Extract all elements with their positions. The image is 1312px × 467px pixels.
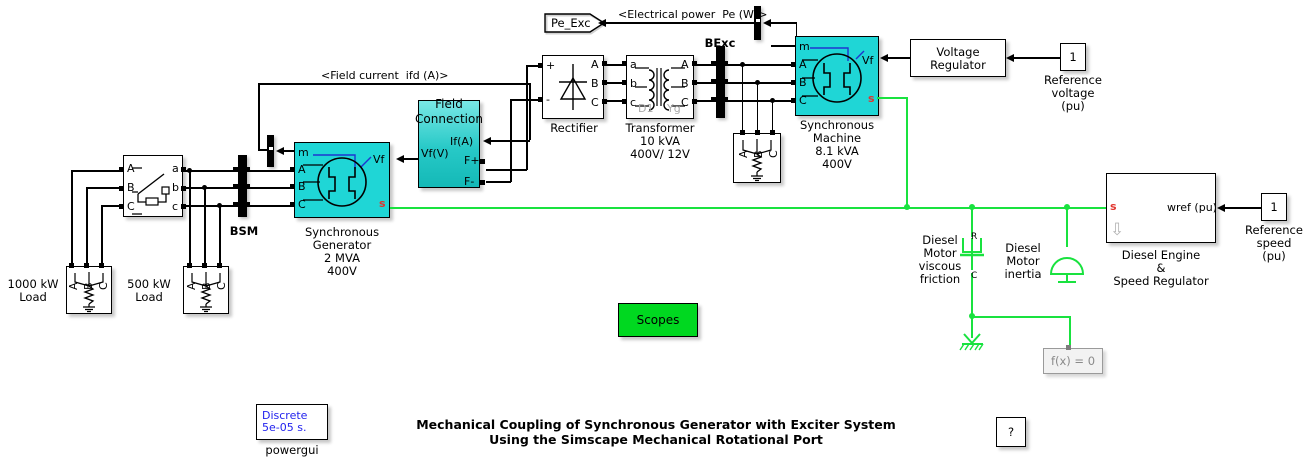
gen-port-m: m xyxy=(298,147,309,158)
wire-500-a xyxy=(189,170,191,265)
load1000-label-2: Load xyxy=(2,291,64,304)
fc-out-port-fminus xyxy=(480,180,485,185)
simulink-canvas: Pe_Exc <Electrical power Pe (W)> m A B C… xyxy=(0,0,1312,467)
diesel-port-s: s xyxy=(1110,201,1117,212)
scopes-label: Scopes xyxy=(618,314,698,327)
mech-wire-inertia xyxy=(1066,207,1068,247)
sm-input-port-a xyxy=(791,62,796,67)
wire-ifd-v-right xyxy=(529,83,531,140)
wire-1000-a-h xyxy=(71,170,120,172)
wire-1000-c-h xyxy=(101,205,120,207)
mech-wire-to-solver-v xyxy=(1069,316,1071,348)
bus-selector-pe-port xyxy=(756,19,760,22)
bexc-port-a-out xyxy=(723,61,728,66)
fc-port-if: If(A) xyxy=(450,136,473,147)
solver-configuration-block[interactable]: f(x) = 0 xyxy=(1043,348,1103,374)
wire-m-to-machine xyxy=(771,45,797,47)
exciter-load-port-c xyxy=(770,130,775,135)
bus-selector-gen-m[interactable] xyxy=(267,135,274,167)
wire-fminus-h2 xyxy=(486,181,511,183)
tr-port-a-out: A xyxy=(681,59,689,70)
sm-port-b: B xyxy=(799,77,807,88)
gen-vf-arrow-icon xyxy=(396,155,404,163)
switch-port-c-out: c xyxy=(172,201,178,212)
fc-port-vf-in: Vf(V) xyxy=(421,148,449,159)
rect-port-b: B xyxy=(591,78,599,89)
friction-label-4: friction xyxy=(912,273,968,286)
bexc-port-b-out xyxy=(723,79,728,84)
field-connection-label-2: Connection xyxy=(398,113,500,126)
sm-port-a: A xyxy=(799,59,807,70)
tr-port-c-in: c xyxy=(630,97,636,108)
exciter-load-port-a xyxy=(740,130,745,135)
mechanical-ground-icon xyxy=(958,333,988,355)
transformer-label-3: 400V/ 12V xyxy=(618,148,702,161)
svg-text:Yg: Yg xyxy=(666,102,681,115)
tr-in-port-a xyxy=(622,61,627,66)
sm-label-4: 400V xyxy=(780,158,894,171)
friction-port-c: C xyxy=(971,271,977,282)
pe-exc-goto-label: Pe_Exc xyxy=(551,17,595,30)
mech-wire-gen-main xyxy=(390,207,910,209)
wire-switch-bsm-c xyxy=(183,205,235,207)
diesel-wref-arrow-icon xyxy=(1217,204,1225,212)
diesel-port-wref: wref (pu) xyxy=(1167,202,1217,213)
wire-tr-bexc-c xyxy=(694,100,714,102)
bsm-label: BSM xyxy=(218,225,270,238)
gen-port-a: A xyxy=(298,164,306,175)
bus-selector-pe-arrow-icon xyxy=(763,19,771,27)
field-connection-label-1: Field xyxy=(408,98,490,111)
wire-tr-bexc-b xyxy=(694,82,714,84)
reference-voltage-value: 1 xyxy=(1069,50,1076,64)
wire-tr-bexc-a xyxy=(694,64,714,66)
wire-fplus-h1 xyxy=(527,65,539,67)
reference-speed-label-3: (pu) xyxy=(1225,250,1312,263)
wire-1000-b-v xyxy=(86,187,88,265)
fc-if-arrow-icon xyxy=(483,137,491,145)
signal-label-ifd: <Field current ifd (A)> xyxy=(321,69,449,82)
wire-ifd-top xyxy=(258,83,530,85)
sm-port-c: C xyxy=(799,95,807,106)
wire-exload-c xyxy=(772,100,773,132)
vr-input-arrow-icon xyxy=(1006,54,1014,62)
wire-switch-bsm-b xyxy=(183,187,235,189)
pe-exc-arrow-icon xyxy=(598,19,606,27)
switch-port-b-out: b xyxy=(172,182,179,193)
mech-wire-sm-top xyxy=(877,97,908,99)
wire-exload-a xyxy=(742,64,743,132)
subsystem-arrow-icon: ⇩ xyxy=(1110,222,1124,239)
switch-port-c-in: C xyxy=(127,201,135,212)
load1000-label-b: B xyxy=(82,270,95,290)
tr-port-c-out: C xyxy=(681,97,689,108)
sm-input-port-b xyxy=(791,80,796,85)
friction-port-r: R xyxy=(971,232,977,243)
bexc-port-c-out xyxy=(723,97,728,102)
solver-config-port xyxy=(1066,345,1071,350)
load500-port-a xyxy=(187,263,192,268)
reference-voltage-label-3: (pu) xyxy=(1024,100,1122,113)
load500-label-b: B xyxy=(200,270,213,290)
exciter-load-port-b xyxy=(755,130,760,135)
inertia-label-3: inertia xyxy=(995,268,1051,281)
gen-port-vf: Vf xyxy=(373,154,384,165)
bus-selector-gen-arrow-icon xyxy=(276,147,284,155)
vf-arrow-icon xyxy=(880,54,888,62)
switch-port-a-out: a xyxy=(172,163,179,174)
rectifier-label: Rectifier xyxy=(538,122,610,135)
sm-port-s: s xyxy=(868,93,875,104)
page-title-line-1: Mechanical Coupling of Synchronous Gener… xyxy=(0,417,1312,432)
load1000-port-a xyxy=(69,263,74,268)
switch-port-a-in: A xyxy=(127,163,135,174)
voltage-regulator-label-2: Regulator xyxy=(910,59,1006,72)
wire-bsm-gen-a xyxy=(247,170,291,172)
rect-port-c: C xyxy=(591,97,599,108)
wire-fplus-h2 xyxy=(486,169,527,171)
mech-wire-to-solver-h xyxy=(971,316,1071,318)
load500-label-a: A xyxy=(185,270,198,290)
load1000-label-a: A xyxy=(67,270,80,290)
sm-port-vf: Vf xyxy=(862,55,873,66)
wire-fplus-v xyxy=(526,65,528,170)
gen-port-s: s xyxy=(379,198,386,209)
wire-ifd-v-left xyxy=(258,83,260,150)
rect-port-minus: - xyxy=(546,94,550,105)
wire-pe-to-goto xyxy=(606,22,754,24)
sm-input-port-c xyxy=(791,98,796,103)
load1000-label-c: C xyxy=(97,270,110,290)
wire-rect-tr-b xyxy=(604,82,622,84)
wire-refv-to-vr xyxy=(1014,57,1060,59)
signal-label-pe: <Electrical power Pe (W)> xyxy=(618,8,767,21)
solver-configuration-label: f(x) = 0 xyxy=(1051,354,1095,368)
mech-wire-to-diesel xyxy=(906,207,1106,209)
exciter-load-label-b: B xyxy=(752,138,765,158)
reference-speed-value: 1 xyxy=(1270,200,1277,214)
tr-port-b-out: B xyxy=(681,78,689,89)
wire-fminus-h1 xyxy=(511,99,539,101)
load500-port-b xyxy=(202,263,207,268)
bexc-label: BExc xyxy=(690,37,750,50)
gen-port-c: C xyxy=(298,199,306,210)
tr-port-b-in: b xyxy=(630,78,637,89)
exciter-load-label-a: A xyxy=(737,138,750,158)
wire-bsm-gen-b xyxy=(247,187,291,189)
gen-port-b: B xyxy=(298,181,306,192)
diesel-inertia-icon[interactable] xyxy=(1046,246,1088,286)
tr-in-port-c xyxy=(622,99,627,104)
fc-out-port-fplus xyxy=(480,159,485,164)
reference-speed-block[interactable]: 1 xyxy=(1261,193,1287,221)
load1000-port-c xyxy=(99,263,104,268)
load500-port-c xyxy=(217,263,222,268)
wire-rect-tr-a xyxy=(604,64,622,66)
fc-port-fminus: F- xyxy=(464,176,474,187)
load500-label-c: C xyxy=(215,270,228,290)
wire-500-b xyxy=(204,187,206,265)
wire-1000-a-v xyxy=(71,170,73,265)
wire-1000-c-v xyxy=(101,205,103,265)
wire-bexc-a xyxy=(725,64,791,66)
bus-selector-gen-port xyxy=(269,147,273,150)
fc-port-fplus: F+ xyxy=(464,155,480,166)
tr-in-port-b xyxy=(622,80,627,85)
wire-bsm-gen-c xyxy=(247,205,291,207)
wire-500-c xyxy=(219,205,221,265)
wire-m-to-bus-top xyxy=(771,22,797,24)
page-title-line-2: Using the Simscape Mechanical Rotational… xyxy=(0,432,1312,447)
switch-port-b-in: B xyxy=(127,182,135,193)
wire-rect-tr-c xyxy=(604,100,622,102)
wire-fc-to-gen-vf xyxy=(404,158,418,160)
wire-refspeed-to-diesel xyxy=(1225,207,1261,209)
load500-label-2: Load xyxy=(118,291,180,304)
rect-port-plus: + xyxy=(546,60,555,71)
gen-label-4: 400V xyxy=(285,265,399,278)
wire-ifd-h-right xyxy=(491,140,530,142)
diesel-engine-label-3: Speed Regulator xyxy=(1106,275,1216,288)
tr-port-a-in: a xyxy=(630,59,637,70)
svg-text:D1: D1 xyxy=(638,102,653,115)
load1000-port-b xyxy=(84,263,89,268)
rect-port-a: A xyxy=(591,59,599,70)
exciter-load-label-c: C xyxy=(767,138,780,158)
reference-voltage-block[interactable]: 1 xyxy=(1060,43,1086,71)
wire-vr-to-vf xyxy=(888,57,910,59)
wire-1000-b-h xyxy=(86,187,120,189)
wire-exload-b xyxy=(757,82,758,132)
sm-port-m: m xyxy=(799,41,810,52)
bus-selector-pe[interactable] xyxy=(754,6,761,40)
mech-wire-sm-vert xyxy=(906,97,908,209)
